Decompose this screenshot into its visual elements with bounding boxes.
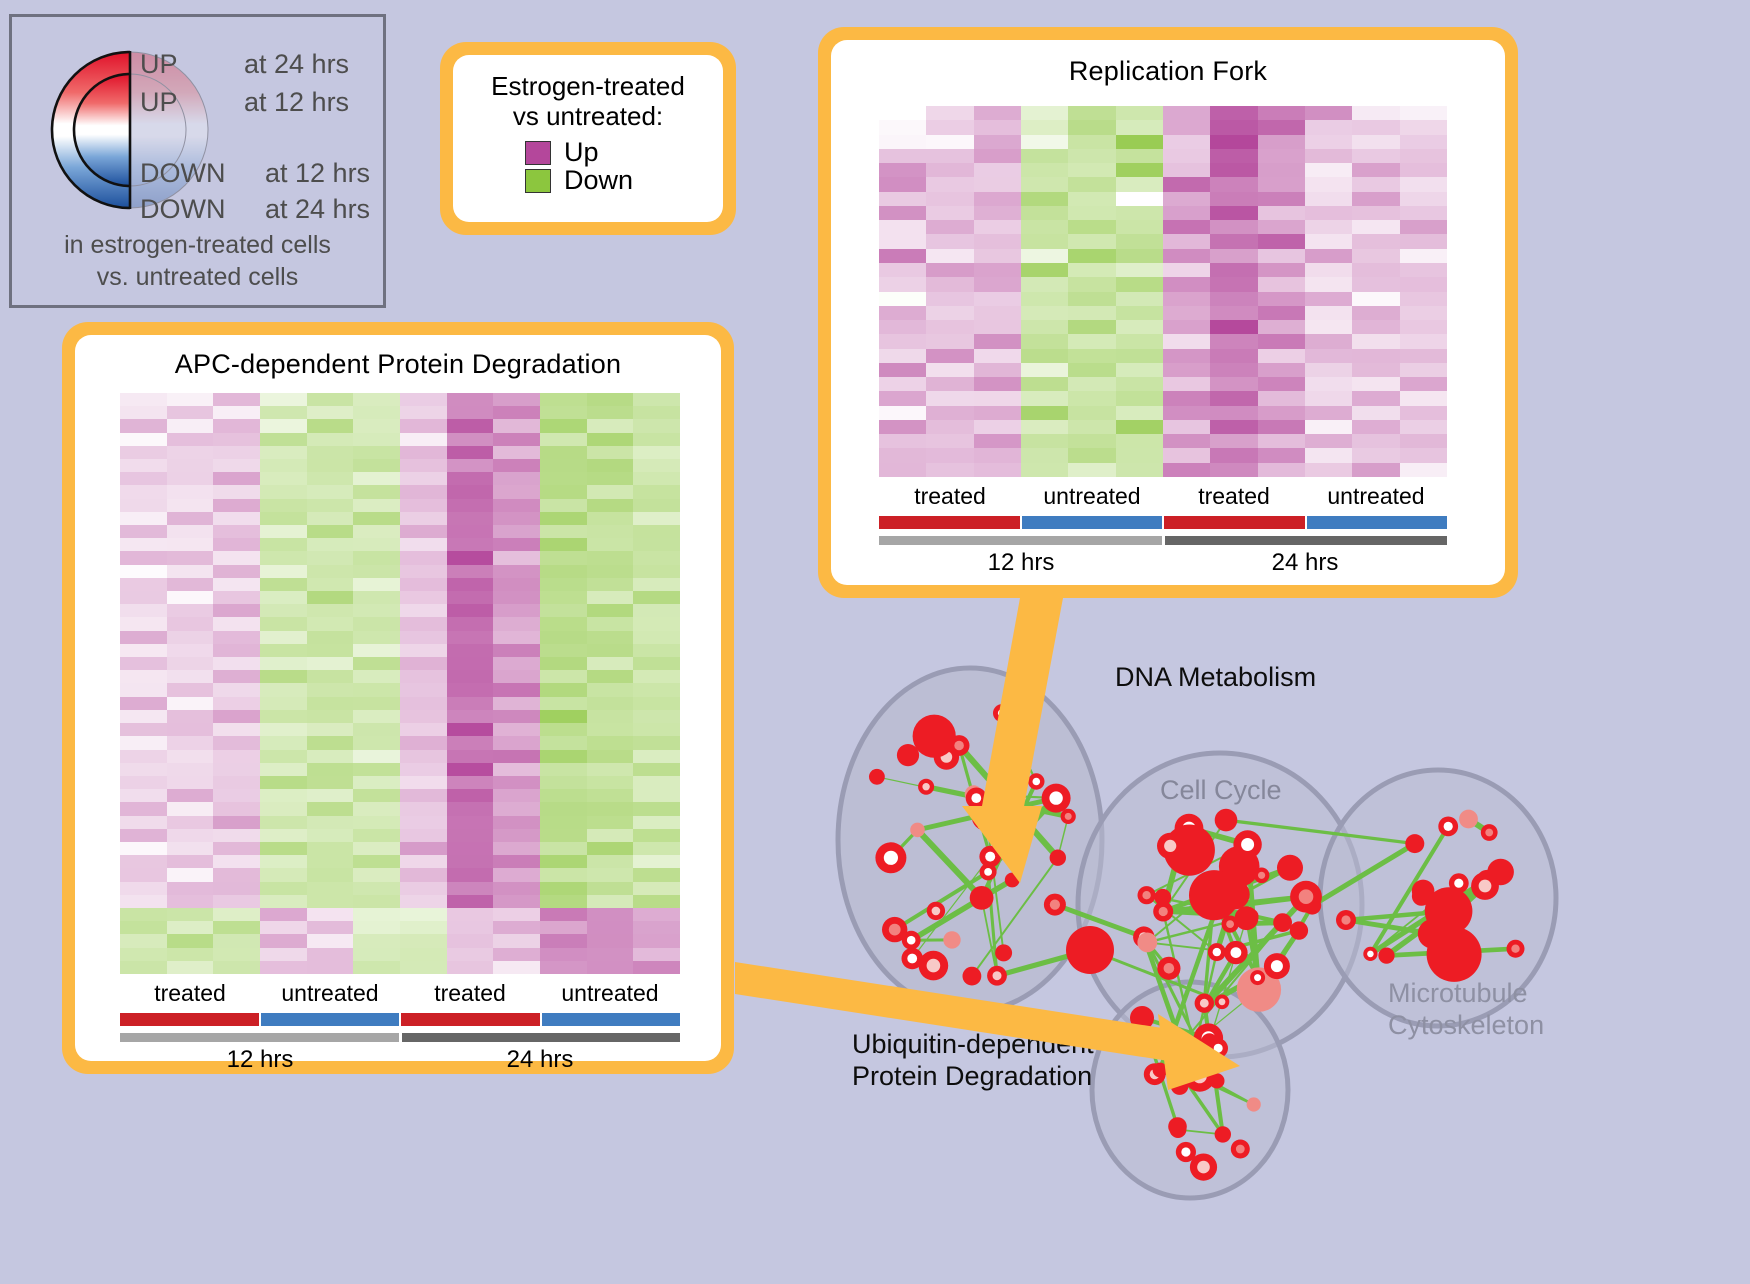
- heatmap-cell: [1163, 206, 1210, 220]
- heatmap-cell: [167, 446, 214, 459]
- legend-item-down: Down: [525, 167, 713, 194]
- heatmap-cell: [493, 895, 540, 908]
- heatmap-cell: [120, 538, 167, 551]
- heatmap-cell: [400, 723, 447, 736]
- heatmap-cell: [400, 512, 447, 525]
- network-node-core: [884, 851, 898, 865]
- heatmap-cell: [879, 277, 926, 291]
- network-node-core: [1454, 879, 1463, 888]
- heatmap-cell: [1210, 463, 1257, 477]
- heatmap-cell: [1305, 220, 1352, 234]
- heatmap-cell: [1352, 434, 1399, 448]
- heatmap-cell: [447, 406, 494, 419]
- heatmap-cell: [540, 525, 587, 538]
- heatmap-cell: [307, 446, 354, 459]
- heatmap-cell: [167, 789, 214, 802]
- heatmap-cell: [879, 363, 926, 377]
- heatmap-cell: [1210, 406, 1257, 420]
- heatmap-cell: [1068, 463, 1115, 477]
- heatmap-cell: [926, 249, 973, 263]
- heatmap-cell: [587, 670, 634, 683]
- heatmap-cell: [493, 723, 540, 736]
- network-node-core: [1485, 829, 1493, 837]
- heatmap-cell: [213, 789, 260, 802]
- heatmap-cell: [400, 604, 447, 617]
- heatmap-cell: [974, 206, 1021, 220]
- network-node[interactable]: [1137, 933, 1157, 953]
- heatmap-cell: [167, 670, 214, 683]
- heatmap-cell: [307, 499, 354, 512]
- heatmap-cell: [120, 921, 167, 934]
- network-node-core: [1271, 960, 1283, 972]
- heatmap-cell: [400, 459, 447, 472]
- heatmap-cell: [353, 842, 400, 855]
- time-bar-segment: [402, 1033, 681, 1042]
- heatmap-cell: [260, 419, 307, 432]
- heatmap-cell: [1258, 106, 1305, 120]
- heatmap-cell: [493, 776, 540, 789]
- heatmap-cell: [540, 868, 587, 881]
- network-node[interactable]: [1005, 873, 1020, 888]
- heatmap-cell: [633, 683, 680, 696]
- heatmap-cell: [540, 763, 587, 776]
- heatmap-cell: [1021, 106, 1068, 120]
- network-node[interactable]: [1247, 1097, 1261, 1111]
- heatmap-cell: [587, 802, 634, 815]
- heatmap-cell: [260, 895, 307, 908]
- network-node[interactable]: [1427, 927, 1482, 982]
- replication-fork-heatmap: [879, 106, 1447, 477]
- heatmap-cell: [493, 921, 540, 934]
- heatmap-cell: [120, 697, 167, 710]
- heatmap-cell: [307, 525, 354, 538]
- heatmap-cell: [400, 419, 447, 432]
- network-node[interactable]: [1066, 926, 1114, 974]
- heatmap-cell: [633, 842, 680, 855]
- heatmap-cell: [400, 776, 447, 789]
- network-node[interactable]: [897, 744, 919, 766]
- heatmap-cell: [167, 710, 214, 723]
- heatmap-cell: [1163, 177, 1210, 191]
- heatmap-cell: [213, 551, 260, 564]
- heatmap-cell: [1258, 163, 1305, 177]
- heatmap-cell: [353, 868, 400, 881]
- heatmap-cell: [587, 842, 634, 855]
- heatmap-cell: [1163, 120, 1210, 134]
- heatmap-cell: [167, 525, 214, 538]
- heatmap-cell: [400, 538, 447, 551]
- heatmap-cell: [120, 789, 167, 802]
- heatmap-cell: [447, 855, 494, 868]
- heatmap-cell: [974, 306, 1021, 320]
- treatment-bar-segment: [879, 516, 1020, 529]
- heatmap-cell: [1258, 434, 1305, 448]
- heatmap-cell: [587, 617, 634, 630]
- time-bar-segment: [879, 536, 1162, 545]
- time-bar-segment: [1165, 536, 1448, 545]
- heatmap-cell: [1163, 249, 1210, 263]
- heatmap-cell: [447, 934, 494, 947]
- heatmap-cell: [307, 895, 354, 908]
- heatmap-cell: [1305, 263, 1352, 277]
- heatmap-cell: [633, 406, 680, 419]
- heatmap-cell: [493, 829, 540, 842]
- heatmap-cell: [213, 565, 260, 578]
- heatmap-cell: [540, 829, 587, 842]
- heatmap-cell: [1400, 377, 1447, 391]
- network-node[interactable]: [963, 967, 982, 986]
- heatmap-cell: [1352, 220, 1399, 234]
- heatmap-cell: [307, 816, 354, 829]
- heatmap-cell: [1400, 192, 1447, 206]
- heatmap-cell: [1163, 306, 1210, 320]
- heatmap-cell: [120, 816, 167, 829]
- heatmap-cell: [260, 908, 307, 921]
- heatmap-cell: [587, 736, 634, 749]
- heatmap-cell: [587, 591, 634, 604]
- heatmap-cell: [926, 292, 973, 306]
- heatmap-cell: [1352, 334, 1399, 348]
- heatmap-cell: [353, 617, 400, 630]
- heatmap-cell: [307, 882, 354, 895]
- heatmap-cell: [447, 750, 494, 763]
- heatmap-cell: [1116, 363, 1163, 377]
- network-node[interactable]: [869, 769, 885, 785]
- heatmap-cell: [926, 406, 973, 420]
- heatmap-cell: [974, 220, 1021, 234]
- network-node[interactable]: [1290, 921, 1308, 939]
- legend-down-24-time: at 24 hrs: [265, 194, 370, 225]
- heatmap-cell: [167, 736, 214, 749]
- heatmap-cell: [400, 644, 447, 657]
- heatmap-cell: [260, 657, 307, 670]
- network-node[interactable]: [1378, 948, 1394, 964]
- heatmap-cell: [213, 512, 260, 525]
- heatmap-cell: [307, 842, 354, 855]
- heatmap-cell: [213, 419, 260, 432]
- heatmap-cell: [633, 525, 680, 538]
- heatmap-cell: [1210, 434, 1257, 448]
- heatmap-cell: [353, 499, 400, 512]
- heatmap-cell: [540, 882, 587, 895]
- network-node-core: [1050, 900, 1060, 910]
- heatmap-cell: [1210, 306, 1257, 320]
- heatmap-cell: [213, 908, 260, 921]
- heatmap-cell: [1163, 334, 1210, 348]
- heatmap-cell: [120, 736, 167, 749]
- heatmap-cell: [1400, 363, 1447, 377]
- network-node[interactable]: [1405, 834, 1424, 853]
- network-node[interactable]: [995, 944, 1012, 961]
- heatmap-cell: [447, 459, 494, 472]
- heatmap-cell: [926, 420, 973, 434]
- heatmap-cell: [167, 657, 214, 670]
- heatmap-cell: [260, 551, 307, 564]
- estrogen-legend-line1: Estrogen-treated: [463, 71, 713, 101]
- heatmap-cell: [1068, 292, 1115, 306]
- heatmap-cell: [307, 419, 354, 432]
- heatmap-cell: [1021, 177, 1068, 191]
- heatmap-cell: [447, 551, 494, 564]
- heatmap-cell: [120, 895, 167, 908]
- heatmap-cell: [879, 334, 926, 348]
- heatmap-cell: [260, 578, 307, 591]
- pathway-network: DNA Metabolism Cell Cycle Microtubule Cy…: [790, 620, 1750, 1279]
- heatmap-cell: [260, 736, 307, 749]
- heatmap-cell: [167, 723, 214, 736]
- heatmap-cell: [1116, 149, 1163, 163]
- heatmap-cell: [307, 644, 354, 657]
- heatmap-cell: [540, 934, 587, 947]
- heatmap-cell: [540, 538, 587, 551]
- heatmap-cell: [167, 604, 214, 617]
- heatmap-cell: [1163, 220, 1210, 234]
- heatmap-cell: [493, 934, 540, 947]
- heatmap-cell: [540, 816, 587, 829]
- network-node[interactable]: [1153, 1063, 1168, 1078]
- heatmap-cell: [1021, 320, 1068, 334]
- heatmap-cell: [1210, 292, 1257, 306]
- heatmap-cell: [633, 723, 680, 736]
- heatmap-cell: [1163, 448, 1210, 462]
- network-node[interactable]: [910, 823, 925, 838]
- heatmap-cell: [633, 499, 680, 512]
- heatmap-cell: [213, 948, 260, 961]
- heatmap-cell: [167, 934, 214, 947]
- heatmap-cell: [447, 710, 494, 723]
- heatmap-cell: [447, 525, 494, 538]
- legend-down-12-label: DOWN: [140, 158, 225, 189]
- heatmap-cell: [493, 644, 540, 657]
- heatmap-cell: [493, 512, 540, 525]
- heatmap-cell: [540, 459, 587, 472]
- heatmap-cell: [213, 882, 260, 895]
- network-node[interactable]: [913, 715, 956, 758]
- heatmap-cell: [260, 472, 307, 485]
- heatmap-cell: [633, 433, 680, 446]
- heatmap-cell: [400, 697, 447, 710]
- group-label-0: treated: [120, 980, 260, 1007]
- heatmap-cell: [926, 192, 973, 206]
- heatmap-cell: [353, 683, 400, 696]
- heatmap-cell: [400, 710, 447, 723]
- heatmap-cell: [540, 736, 587, 749]
- heatmap-cell: [447, 538, 494, 551]
- heatmap-cell: [633, 446, 680, 459]
- replication-time-bar: [879, 536, 1447, 545]
- heatmap-cell: [447, 763, 494, 776]
- heatmap-cell: [1163, 149, 1210, 163]
- heatmap-cell: [1116, 349, 1163, 363]
- heatmap-cell: [493, 617, 540, 630]
- heatmap-cell: [167, 419, 214, 432]
- heatmap-cell: [400, 578, 447, 591]
- heatmap-cell: [1210, 120, 1257, 134]
- heatmap-cell: [167, 948, 214, 961]
- heatmap-cell: [167, 538, 214, 551]
- heatmap-cell: [1021, 277, 1068, 291]
- heatmap-cell: [400, 499, 447, 512]
- heatmap-cell: [353, 591, 400, 604]
- heatmap-cell: [1305, 306, 1352, 320]
- heatmap-cell: [447, 789, 494, 802]
- treatment-bar-segment: [1022, 516, 1163, 529]
- heatmap-cell: [353, 908, 400, 921]
- network-node[interactable]: [1168, 1117, 1187, 1136]
- heatmap-cell: [120, 459, 167, 472]
- heatmap-cell: [493, 551, 540, 564]
- apc-degradation-panel: APC-dependent Protein Degradation treate…: [62, 322, 734, 1074]
- heatmap-cell: [120, 961, 167, 974]
- heatmap-cell: [1258, 249, 1305, 263]
- heatmap-cell: [213, 855, 260, 868]
- treatment-bar-segment: [1307, 516, 1448, 529]
- figure-canvas: UP at 24 hrs UP at 12 hrs DOWN at 12 hrs…: [0, 0, 1750, 1279]
- heatmap-cell: [1068, 406, 1115, 420]
- heatmap-cell: [400, 657, 447, 670]
- heatmap-cell: [540, 393, 587, 406]
- heatmap-cell: [974, 448, 1021, 462]
- network-node[interactable]: [1215, 809, 1238, 832]
- heatmap-cell: [120, 485, 167, 498]
- heatmap-cell: [540, 789, 587, 802]
- network-node[interactable]: [1215, 1126, 1231, 1142]
- heatmap-cell: [307, 802, 354, 815]
- heatmap-cell: [213, 393, 260, 406]
- heatmap-cell: [633, 763, 680, 776]
- heatmap-cell: [400, 472, 447, 485]
- heatmap-cell: [307, 670, 354, 683]
- heatmap-cell: [587, 895, 634, 908]
- down-swatch-icon: [525, 169, 551, 193]
- heatmap-cell: [213, 459, 260, 472]
- heatmap-cell: [353, 433, 400, 446]
- heatmap-cell: [1163, 434, 1210, 448]
- heatmap-cell: [1068, 363, 1115, 377]
- heatmap-cell: [1258, 448, 1305, 462]
- replication-treatment-bar: [879, 516, 1447, 529]
- heatmap-cell: [540, 551, 587, 564]
- heatmap-cell: [1305, 120, 1352, 134]
- heatmap-cell: [120, 868, 167, 881]
- time-label-0: 12 hrs: [879, 549, 1163, 577]
- heatmap-cell: [540, 472, 587, 485]
- heatmap-cell: [1210, 220, 1257, 234]
- network-node[interactable]: [970, 886, 994, 910]
- heatmap-cell: [879, 463, 926, 477]
- network-node-core: [954, 741, 964, 751]
- network-node[interactable]: [1459, 810, 1478, 829]
- heatmap-cell: [353, 829, 400, 842]
- heatmap-cell: [879, 320, 926, 334]
- heatmap-cell: [1210, 391, 1257, 405]
- heatmap-cell: [1021, 149, 1068, 163]
- heatmap-cell: [1210, 135, 1257, 149]
- heatmap-cell: [167, 591, 214, 604]
- heatmap-cell: [400, 763, 447, 776]
- heatmap-cell: [213, 961, 260, 974]
- heatmap-cell: [540, 419, 587, 432]
- network-node[interactable]: [1277, 855, 1303, 881]
- heatmap-cell: [587, 433, 634, 446]
- heatmap-cell: [1352, 234, 1399, 248]
- heatmap-cell: [1352, 192, 1399, 206]
- heatmap-cell: [540, 433, 587, 446]
- heatmap-cell: [167, 776, 214, 789]
- heatmap-cell: [633, 895, 680, 908]
- network-node[interactable]: [1273, 913, 1292, 932]
- heatmap-cell: [307, 393, 354, 406]
- heatmap-cell: [260, 763, 307, 776]
- heatmap-cell: [1021, 349, 1068, 363]
- heatmap-cell: [447, 644, 494, 657]
- heatmap-cell: [879, 234, 926, 248]
- heatmap-cell: [307, 578, 354, 591]
- heatmap-cell: [493, 433, 540, 446]
- heatmap-cell: [353, 446, 400, 459]
- heatmap-cell: [167, 895, 214, 908]
- cluster-label-microtubule-line2: Cytoskeleton: [1388, 1010, 1544, 1042]
- network-node[interactable]: [1130, 1006, 1154, 1030]
- heatmap-cell: [1258, 320, 1305, 334]
- heatmap-cell: [353, 961, 400, 974]
- heatmap-cell: [633, 882, 680, 895]
- heatmap-cell: [167, 921, 214, 934]
- heatmap-cell: [493, 855, 540, 868]
- heatmap-cell: [260, 670, 307, 683]
- heatmap-cell: [167, 697, 214, 710]
- heatmap-cell: [587, 908, 634, 921]
- heatmap-cell: [167, 644, 214, 657]
- heatmap-cell: [1068, 391, 1115, 405]
- heatmap-cell: [1021, 234, 1068, 248]
- legend-footnote: in estrogen-treated cells vs. untreated …: [12, 229, 383, 293]
- heatmap-cell: [447, 683, 494, 696]
- heatmap-cell: [167, 763, 214, 776]
- heatmap-cell: [587, 683, 634, 696]
- heatmap-cell: [1068, 334, 1115, 348]
- heatmap-cell: [1068, 277, 1115, 291]
- network-node[interactable]: [1189, 870, 1239, 920]
- heatmap-cell: [353, 855, 400, 868]
- heatmap-cell: [587, 406, 634, 419]
- heatmap-cell: [633, 631, 680, 644]
- heatmap-cell: [307, 763, 354, 776]
- network-node[interactable]: [943, 931, 960, 948]
- heatmap-cell: [633, 789, 680, 802]
- heatmap-cell: [353, 921, 400, 934]
- heatmap-cell: [493, 736, 540, 749]
- heatmap-cell: [1305, 334, 1352, 348]
- heatmap-cell: [447, 617, 494, 630]
- heatmap-cell: [353, 763, 400, 776]
- heatmap-cell: [1305, 106, 1352, 120]
- heatmap-cell: [260, 499, 307, 512]
- heatmap-cell: [879, 306, 926, 320]
- heatmap-cell: [1352, 106, 1399, 120]
- heatmap-cell: [974, 420, 1021, 434]
- heatmap-cell: [400, 789, 447, 802]
- heatmap-cell: [1352, 277, 1399, 291]
- heatmap-cell: [307, 697, 354, 710]
- heatmap-cell: [1021, 292, 1068, 306]
- legend-footnote-line1: in estrogen-treated cells: [12, 229, 383, 261]
- network-node[interactable]: [1050, 850, 1066, 866]
- heatmap-cell: [493, 882, 540, 895]
- heatmap-cell: [1163, 349, 1210, 363]
- heatmap-cell: [400, 908, 447, 921]
- heatmap-cell: [633, 565, 680, 578]
